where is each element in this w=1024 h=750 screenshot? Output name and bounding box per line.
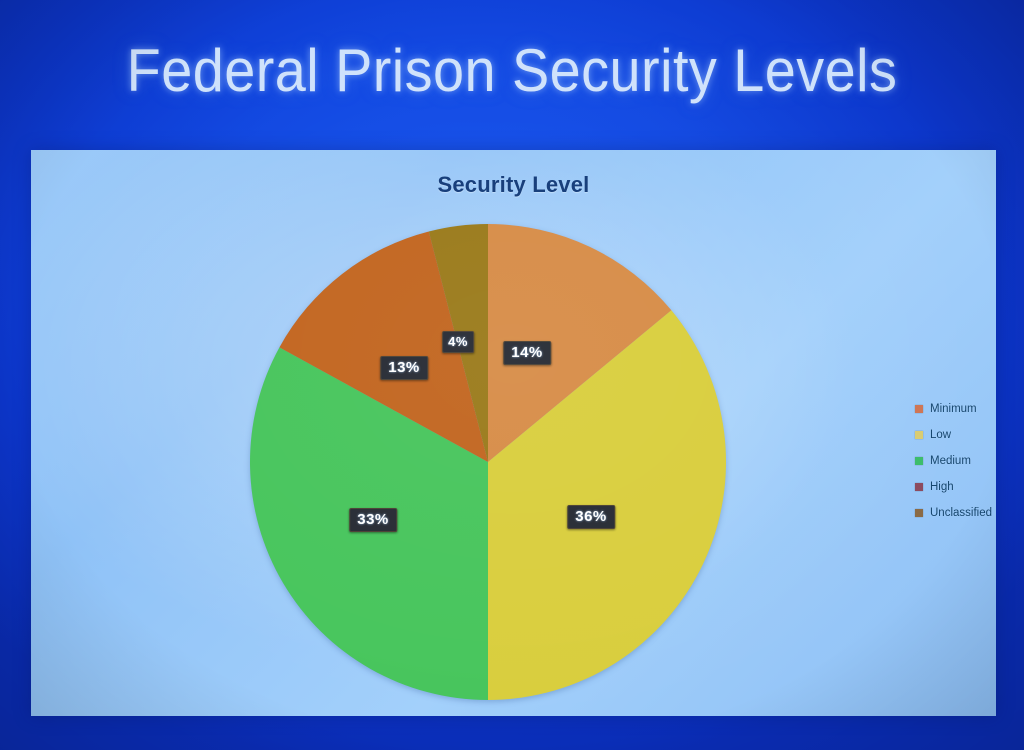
legend-label: Minimum xyxy=(930,403,977,415)
legend-swatch-icon xyxy=(915,509,923,517)
presentation-slide: Federal Prison Security Levels Security … xyxy=(0,0,1024,750)
legend-swatch-icon xyxy=(915,405,923,413)
data-label-high: 13% xyxy=(380,356,428,380)
chart-title: Security Level xyxy=(31,172,996,198)
chart-legend: MinimumLowMediumHighUnclassified xyxy=(915,396,1024,526)
data-label-minimum: 14% xyxy=(503,341,551,365)
legend-item-medium[interactable]: Medium xyxy=(915,448,1024,474)
data-label-medium: 33% xyxy=(349,508,397,532)
legend-label: Low xyxy=(930,429,951,441)
slide-title: Federal Prison Security Levels xyxy=(36,36,988,106)
pie-chart xyxy=(248,222,728,702)
legend-item-low[interactable]: Low xyxy=(915,422,1024,448)
chart-panel: Security Level 14%36%33%13%4% MinimumLow… xyxy=(31,150,996,716)
legend-swatch-icon xyxy=(915,483,923,491)
legend-item-minimum[interactable]: Minimum xyxy=(915,396,1024,422)
legend-label: Medium xyxy=(930,455,971,467)
data-label-low: 36% xyxy=(567,505,615,529)
legend-label: High xyxy=(930,481,954,493)
legend-swatch-icon xyxy=(915,457,923,465)
legend-item-unclassified[interactable]: Unclassified xyxy=(915,500,1024,526)
pie-slice-group xyxy=(250,224,726,700)
legend-item-high[interactable]: High xyxy=(915,474,1024,500)
legend-swatch-icon xyxy=(915,431,923,439)
legend-label: Unclassified xyxy=(930,507,992,519)
pie-chart-svg xyxy=(248,222,728,702)
data-label-unclassified: 4% xyxy=(442,331,474,353)
